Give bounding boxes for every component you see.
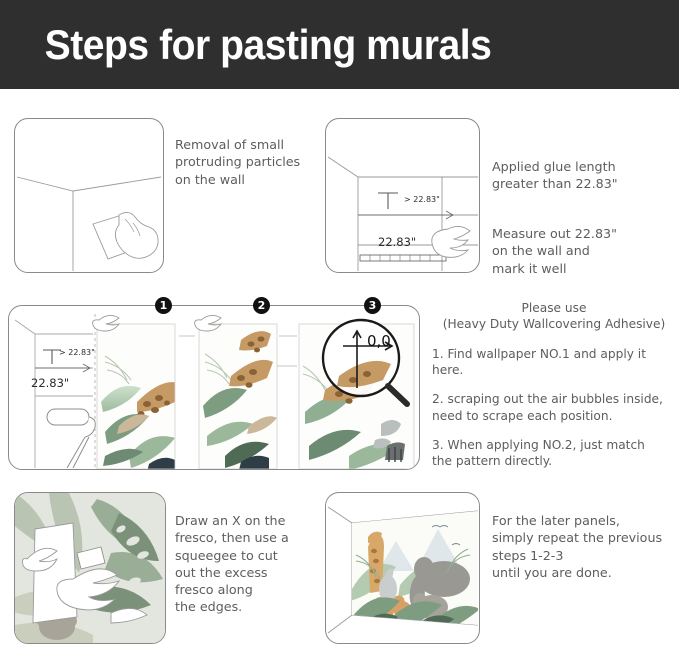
dimension-bottom: 22.83" [378,235,416,249]
instruction-sheet: Steps for pasting murals Removal of smal… [0,0,679,652]
panel-apply-illustration: 0,0 > 22.83" 22.83" [8,305,420,470]
badge-step-2: 2 [253,297,270,314]
monstera-cut-drawing [15,493,165,643]
header-banner: Steps for pasting murals [0,0,679,89]
badge-step-1: 1 [155,297,172,314]
instructions-block: Please use (Heavy Duty Wallcovering Adhe… [432,300,676,470]
panel-measure-illustration: > 22.83" 22.83" [325,118,480,273]
caption-squeegee: Draw an X on the fresco, then use a sque… [175,512,325,616]
panel-corner-illustration [14,118,164,273]
caption-measure-top: Applied glue length greater than 22.83" [492,158,672,193]
instructions-step-2: 2. scraping out the air bubbles inside, … [432,391,676,424]
caption-final: For the later panels, simply repeat the … [492,512,679,581]
instructions-step-1: 1. Find wallpaper NO.1 and apply it here… [432,346,676,379]
apply-dimension-bottom: 22.83" [31,376,69,390]
instructions-adhesive: (Heavy Duty Wallcovering Adhesive) [432,316,676,332]
room-corner-drawing [15,119,163,272]
instructions-step-3: 3. When applying NO.2, just match the pa… [432,437,676,470]
panel-squeegee-illustration [14,492,166,644]
magnifier-origin-label: 0,0 [367,332,391,350]
wall-measure-drawing [326,119,479,272]
instructions-title: Please use [432,300,676,316]
caption-corner: Removal of small protruding particles on… [175,136,320,188]
wallpaper-apply-drawing: 0,0 [9,306,419,469]
dimension-top: > 22.83" [404,195,440,204]
finished-mural-drawing [326,493,479,643]
apply-dimension-top: > 22.83" [59,348,95,357]
page-title: Steps for pasting murals [0,21,491,69]
caption-measure-bottom: Measure out 22.83" on the wall and mark … [492,225,672,277]
panel-final-illustration [325,492,480,644]
badge-step-3: 3 [364,297,381,314]
